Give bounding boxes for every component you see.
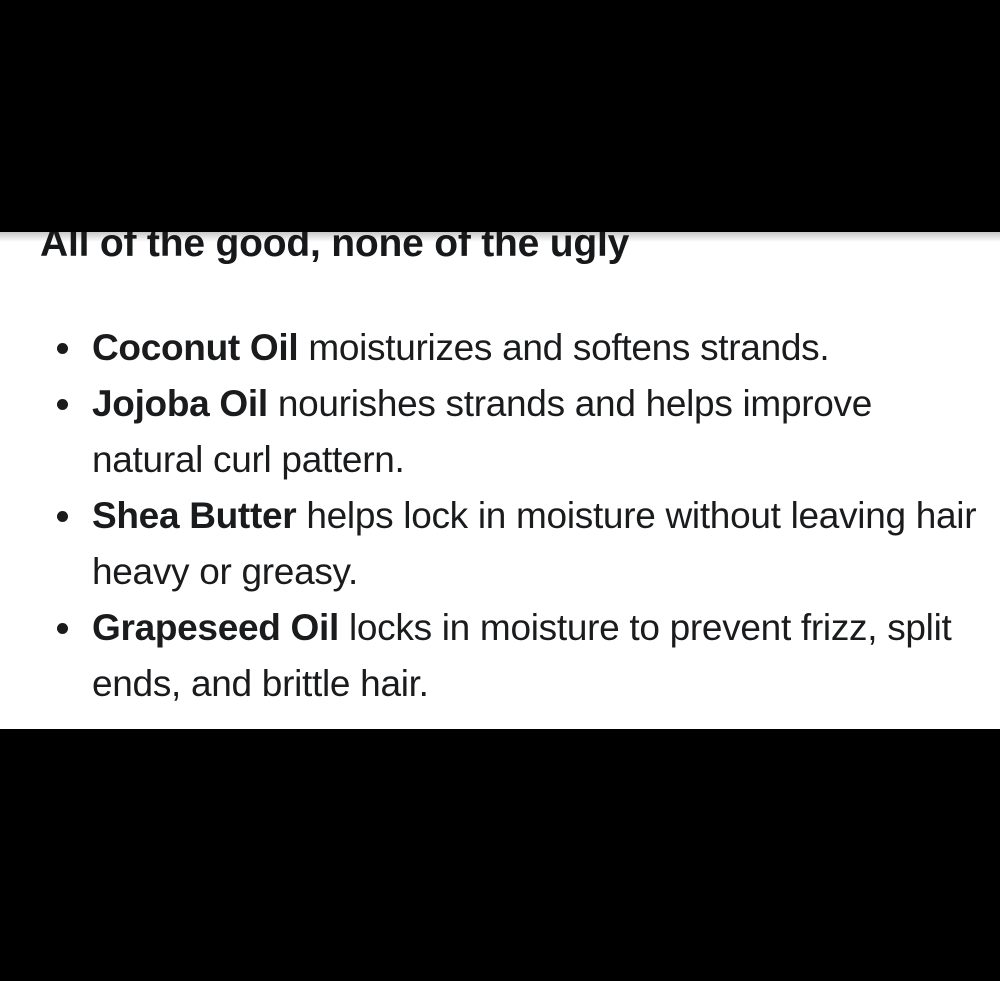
benefit-term: Shea Butter [92,495,296,536]
heading-clip-region: All of the good, none of the ugly [0,232,1000,278]
letterbox-bar-top [0,0,1000,232]
benefit-term: Coconut Oil [92,327,298,368]
list-item: Jojoba Oil nourishes strands and helps i… [0,376,1000,488]
benefits-list: Coconut Oil moisturizes and softens stra… [0,320,1000,712]
letterbox-bar-bottom [0,729,1000,981]
bullet-dot-icon [57,623,68,634]
bullet-dot-icon [57,343,68,354]
benefit-term: Grapeseed Oil [92,607,339,648]
list-item: Coconut Oil moisturizes and softens stra… [0,320,1000,376]
bullet-dot-icon [57,511,68,522]
list-item: Grapeseed Oil locks in moisture to preve… [0,600,1000,712]
benefit-description: moisturizes and softens strands. [298,327,829,368]
page-title: All of the good, none of the ugly [40,232,629,267]
benefit-term: Jojoba Oil [92,383,268,424]
screenshot-root: All of the good, none of the ugly Coconu… [0,0,1000,981]
list-item: Shea Butter helps lock in moisture witho… [0,488,1000,600]
bullet-dot-icon [57,399,68,410]
product-benefits-panel: All of the good, none of the ugly Coconu… [0,232,1000,729]
